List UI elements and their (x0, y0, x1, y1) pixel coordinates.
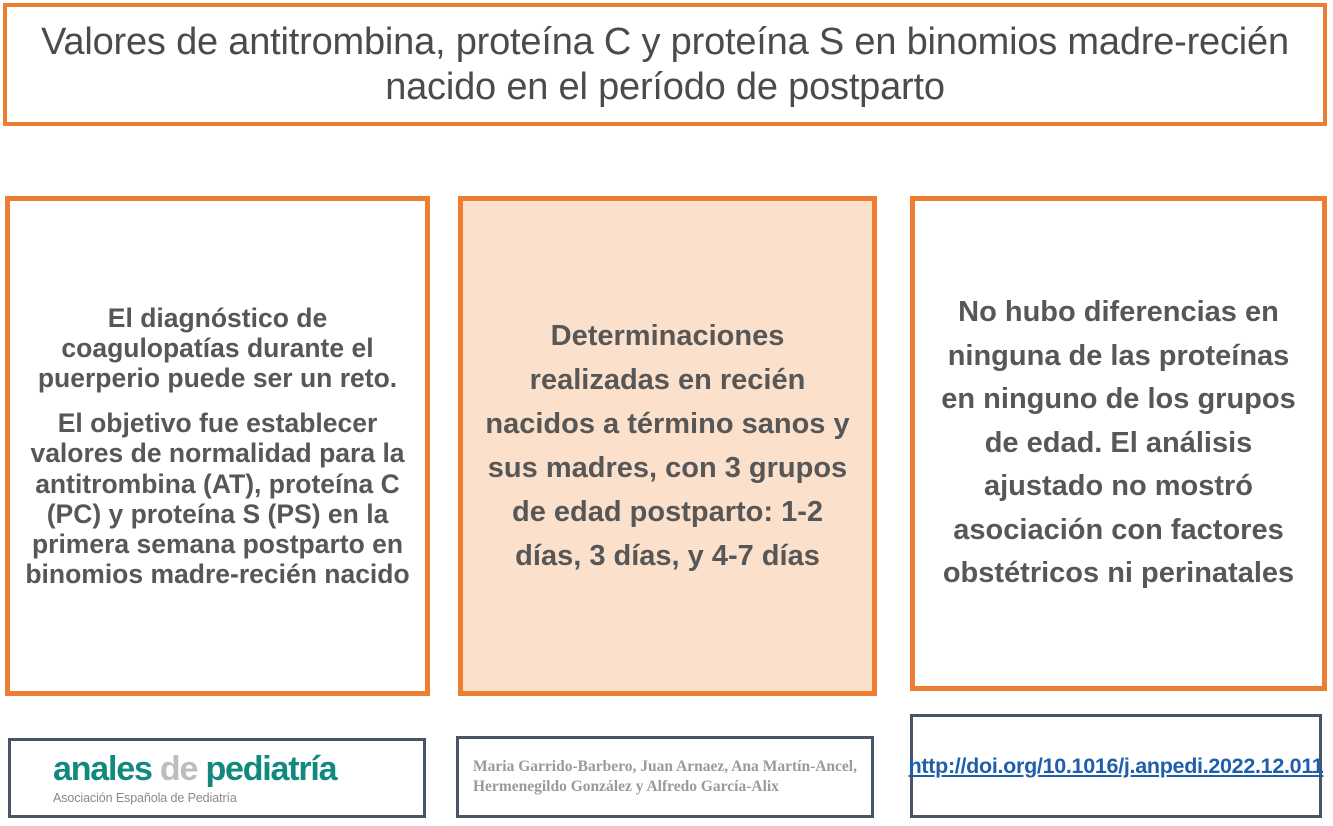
panel-objective-paragraph-2: El objetivo fue establecer valores de no… (24, 408, 411, 589)
journal-logo-wordmark: anales de pediatría (53, 752, 423, 786)
journal-logo-word-anales: anales (53, 750, 152, 788)
authors-list: Maria Garrido-Barbero, Juan Arnaez, Ana … (473, 757, 857, 798)
journal-logo-word-de: de (152, 750, 206, 788)
journal-logo-subtitle: Asociación Española de Pediatría (53, 791, 423, 805)
panel-results-paragraph-1: No hubo diferencias en ninguna de las pr… (929, 291, 1308, 596)
authors-box: Maria Garrido-Barbero, Juan Arnaez, Ana … (456, 736, 874, 818)
slide-title-box: Valores de antitrombina, proteína C y pr… (3, 3, 1327, 126)
doi-link[interactable]: http://doi.org/10.1016/j.anpedi.2022.12.… (909, 754, 1324, 779)
journal-logo-word-pediatria: pediatría (205, 750, 336, 788)
panel-methods-paragraph-1: Determinaciones realizadas en recién nac… (477, 314, 858, 578)
page-title: Valores de antitrombina, proteína C y pr… (7, 20, 1323, 110)
panel-objective: El diagnóstico de coagulopatías durante … (5, 196, 430, 696)
panel-results: No hubo diferencias en ninguna de las pr… (910, 196, 1327, 691)
slide-canvas: Valores de antitrombina, proteína C y pr… (0, 0, 1333, 826)
journal-logo-box: anales de pediatría Asociación Española … (8, 738, 426, 818)
panel-objective-paragraph-1: El diagnóstico de coagulopatías durante … (24, 303, 411, 394)
doi-box: http://doi.org/10.1016/j.anpedi.2022.12.… (910, 714, 1322, 818)
panel-methods: Determinaciones realizadas en recién nac… (458, 196, 877, 696)
